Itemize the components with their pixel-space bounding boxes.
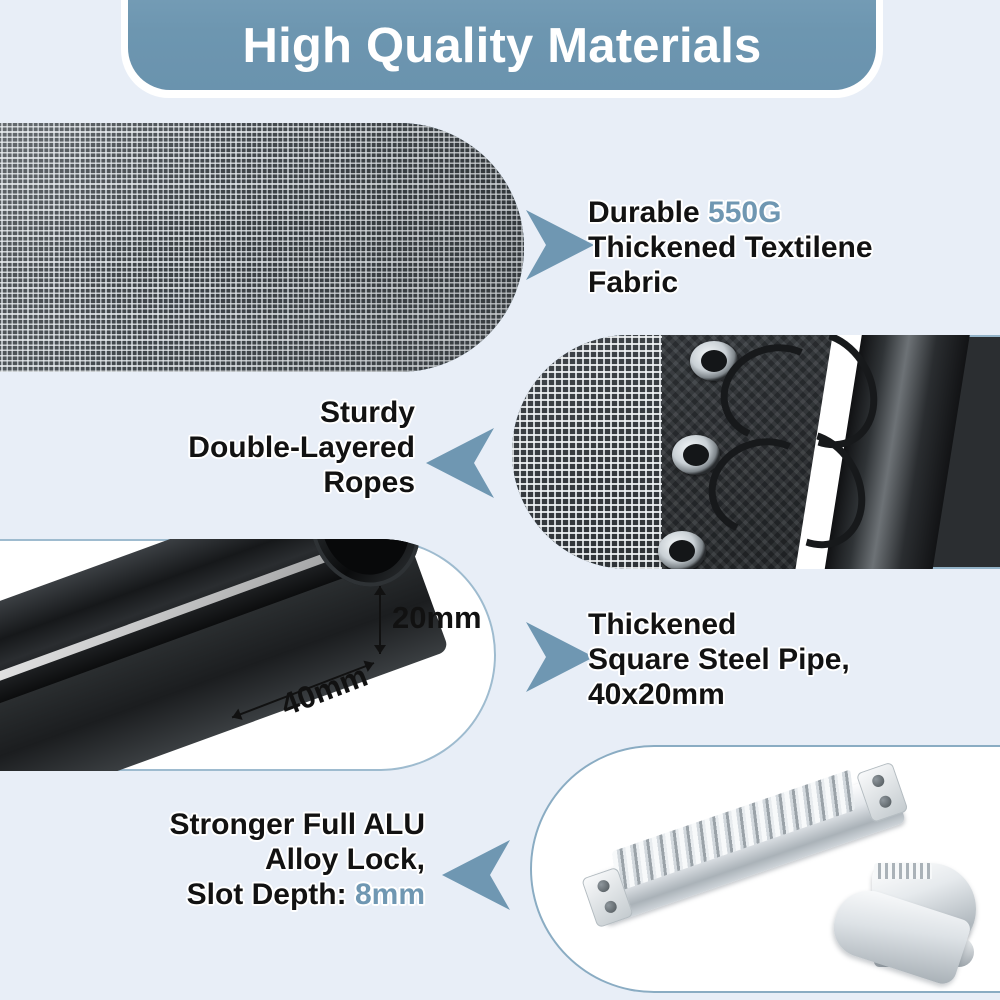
callout-ropes-line-3: Ropes bbox=[105, 466, 415, 501]
lock-photo-panel bbox=[530, 745, 1000, 993]
infographic-canvas: High Quality Materials Durable 550G Thic… bbox=[0, 0, 1000, 1000]
callout-pipe-line-1: Thickened bbox=[588, 608, 850, 643]
callout-fabric-line-3: Fabric bbox=[588, 266, 873, 301]
fabric-photo-panel bbox=[0, 123, 524, 372]
callout-ropes: Sturdy Double-Layered Ropes bbox=[105, 396, 415, 500]
callout-ropes-line-1: Sturdy bbox=[105, 396, 415, 431]
arrow-right-icon bbox=[524, 206, 596, 284]
header-banner: High Quality Materials bbox=[128, 0, 876, 90]
screw-hole-icon bbox=[871, 773, 886, 788]
dimension-label-height: 20mm bbox=[392, 600, 482, 636]
arrow-left-icon bbox=[440, 836, 512, 914]
callout-pipe: Thickened Square Steel Pipe, 40x20mm bbox=[588, 608, 850, 712]
dimension-line-height bbox=[379, 586, 381, 654]
callout-lock-line-2: Alloy Lock, bbox=[95, 843, 425, 878]
page-title: High Quality Materials bbox=[242, 18, 761, 90]
callout-fabric-line-2: Thickened Textilene bbox=[588, 231, 873, 266]
ropes-photo-panel bbox=[512, 335, 1000, 569]
callout-lock-line-3: Slot Depth: 8mm bbox=[95, 878, 425, 913]
callout-lock-line-1: Stronger Full ALU bbox=[95, 808, 425, 843]
steel-pipe-render bbox=[0, 539, 496, 771]
pipe-photo-panel bbox=[0, 539, 496, 771]
callout-fabric-line-1: Durable 550G bbox=[588, 196, 873, 231]
callout-ropes-line-2: Double-Layered bbox=[105, 431, 415, 466]
cam-notch-teeth bbox=[874, 863, 932, 879]
callout-pipe-line-3: 40x20mm bbox=[588, 678, 850, 713]
callout-lock: Stronger Full ALU Alloy Lock, Slot Depth… bbox=[95, 808, 425, 912]
screw-hole-icon bbox=[878, 794, 893, 809]
arrow-left-icon bbox=[424, 424, 496, 502]
grommet-icon bbox=[658, 531, 706, 569]
rope-panel-mesh-fabric bbox=[512, 335, 672, 569]
screw-hole-icon bbox=[596, 878, 611, 893]
callout-fabric: Durable 550G Thickened Textilene Fabric bbox=[588, 196, 873, 300]
screw-hole-icon bbox=[603, 899, 618, 914]
fabric-sheen bbox=[0, 123, 524, 372]
alloy-cam-lever bbox=[830, 863, 980, 983]
callout-pipe-line-2: Square Steel Pipe, bbox=[588, 643, 850, 678]
arrow-right-icon bbox=[524, 618, 596, 696]
